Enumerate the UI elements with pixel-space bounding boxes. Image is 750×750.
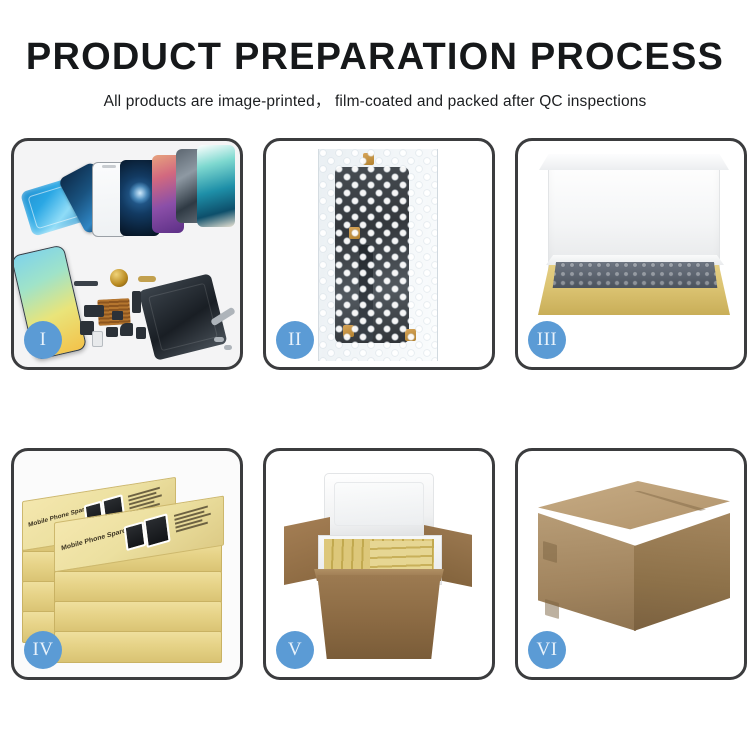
bubble-wrapped-contents	[551, 262, 719, 288]
box-artwork-chip	[124, 521, 147, 551]
step-panel-6[interactable]: VI	[515, 448, 747, 680]
step-badge-4: IV	[24, 631, 62, 669]
stacked-box	[54, 601, 222, 633]
header: PRODUCT PREPARATION PROCESS All products…	[0, 0, 750, 111]
small-part	[92, 331, 103, 347]
small-part	[132, 291, 141, 313]
carton-side-face	[634, 513, 730, 631]
page-subtitle: All products are image-printed， film-coa…	[0, 89, 750, 111]
small-part	[74, 281, 98, 286]
step-panel-3[interactable]: III	[515, 138, 747, 370]
small-part	[106, 327, 118, 337]
box-artwork-chip	[143, 513, 170, 548]
step-badge-6: VI	[528, 631, 566, 669]
step-badge-2: II	[276, 321, 314, 359]
step-badge-3: III	[528, 321, 566, 359]
box-spec-lines	[174, 504, 216, 535]
step-panel-5[interactable]: V	[263, 448, 495, 680]
step-badge-5: V	[276, 631, 314, 669]
bubble-texture	[319, 149, 437, 361]
product-preparation-infographic: PRODUCT PREPARATION PROCESS All products…	[0, 0, 750, 750]
step-panel-2[interactable]: II	[263, 138, 495, 370]
foam-lid	[324, 473, 434, 537]
small-part	[112, 311, 123, 320]
bubble-wrap-bag	[318, 149, 438, 361]
carton-body	[312, 575, 446, 659]
step-panel-1[interactable]: I	[11, 138, 243, 370]
carton-tape-mark	[543, 541, 557, 563]
small-part	[214, 337, 224, 342]
teal-gradient-phone	[197, 145, 235, 227]
stacked-box	[54, 571, 222, 603]
page-title: PRODUCT PREPARATION PROCESS	[0, 38, 750, 78]
stacked-box	[54, 631, 222, 663]
carton-tape-mark	[545, 599, 559, 619]
small-part	[136, 327, 146, 339]
process-step-grid: I II	[11, 138, 739, 680]
small-part	[138, 276, 156, 282]
small-part	[224, 345, 232, 350]
camera-lens-part	[110, 269, 128, 287]
step-panel-4[interactable]: Mobile Phone Spare Parts Mobile Phone Sp…	[11, 448, 243, 680]
small-part	[120, 323, 133, 336]
step-badge-1: I	[24, 321, 62, 359]
small-part	[84, 305, 104, 317]
